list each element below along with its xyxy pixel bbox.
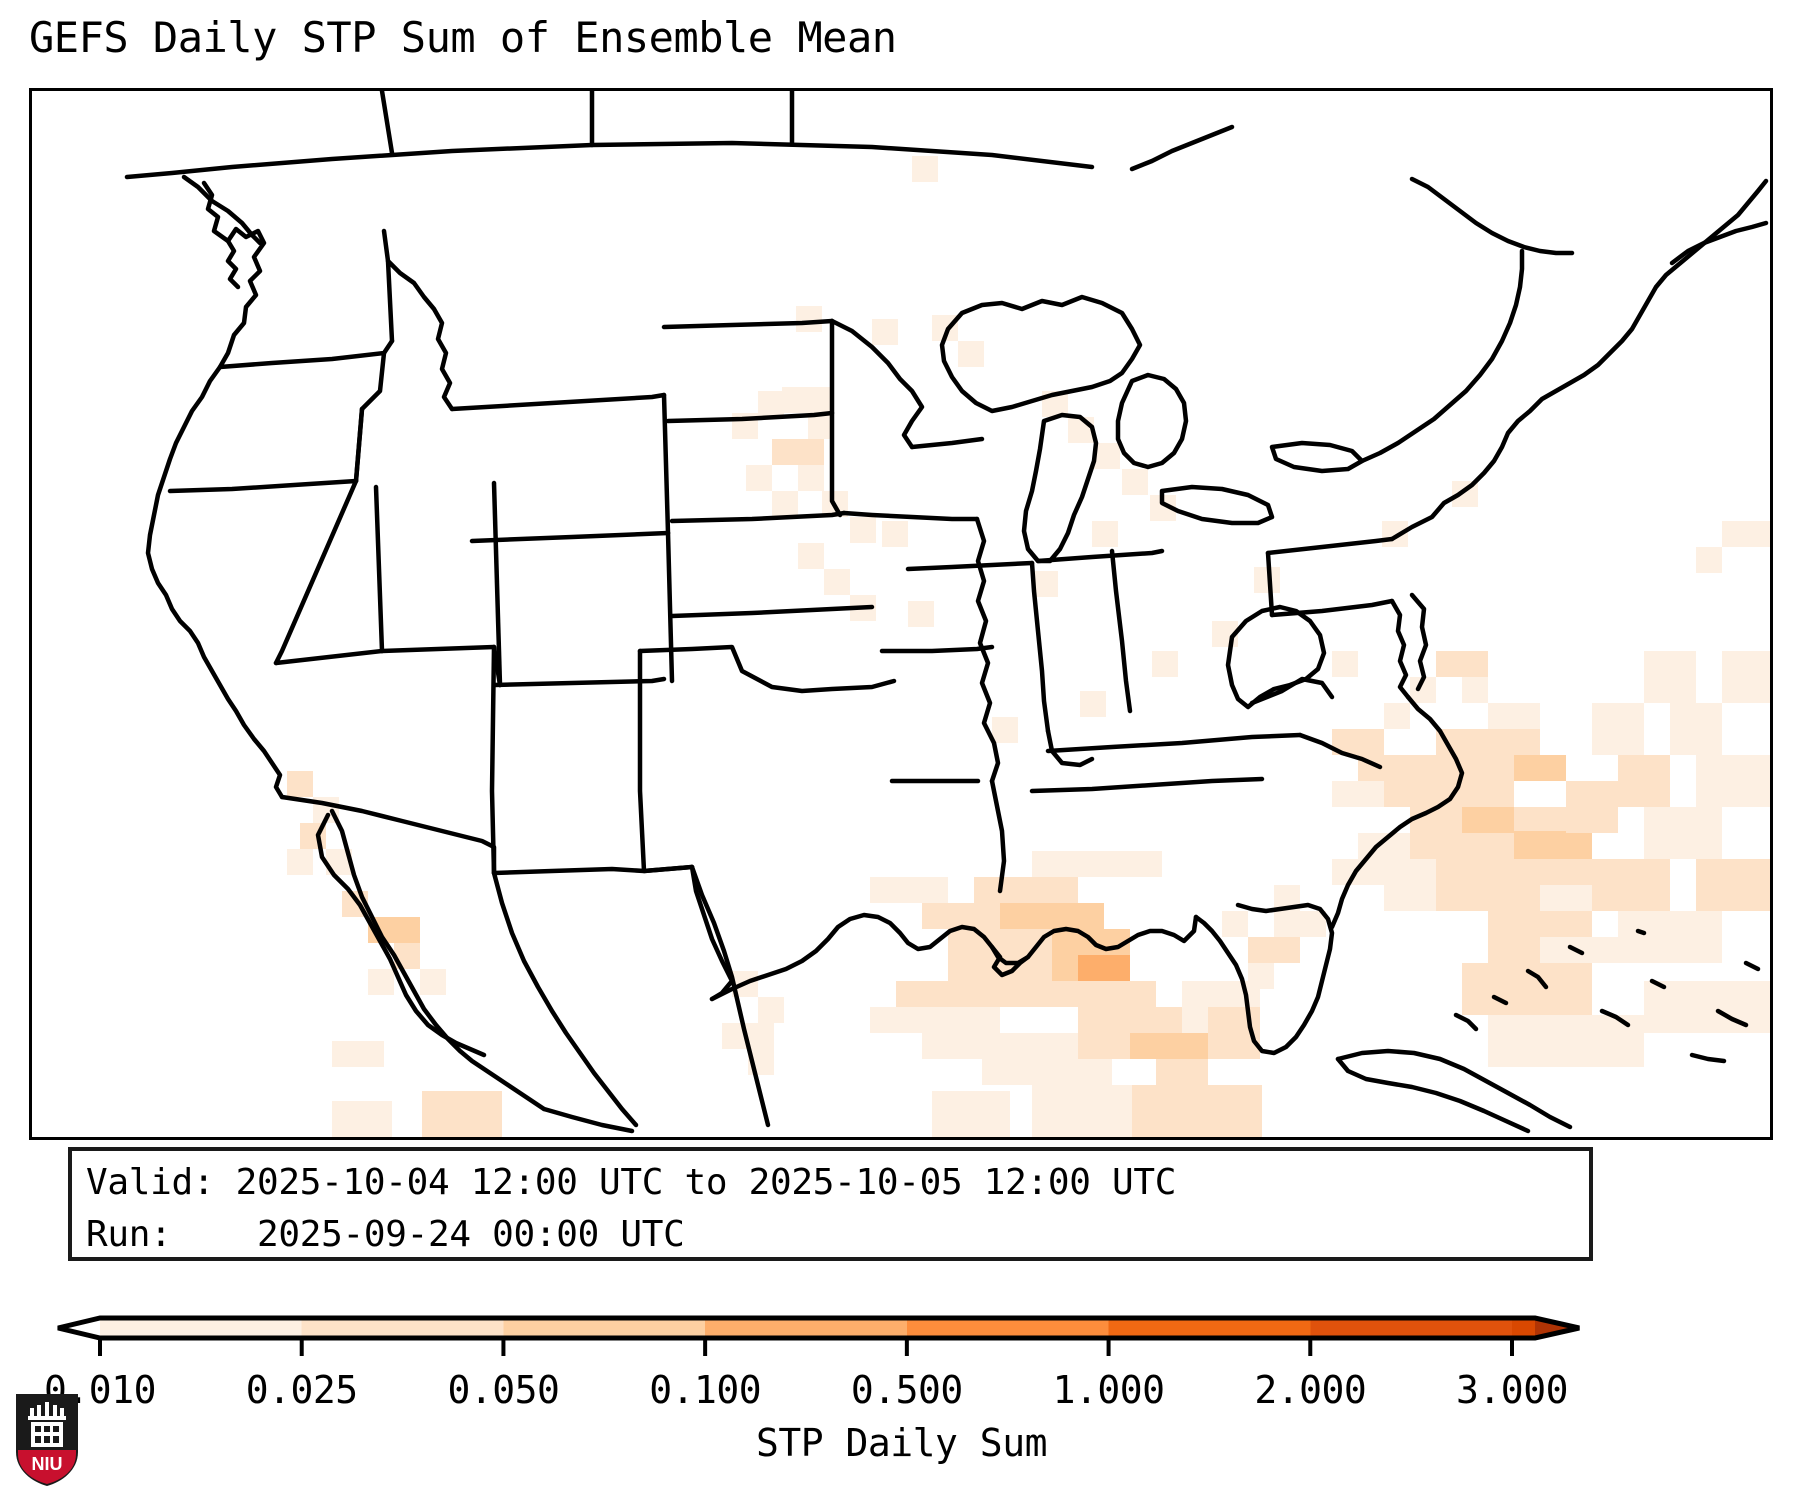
niu-logo-text: NIU: [32, 1454, 63, 1474]
colorbar-tick-label-7: 3.000: [1456, 1368, 1568, 1412]
colorbar-tick-label-3: 0.100: [649, 1368, 761, 1412]
colorbar-band-0: [100, 1318, 302, 1338]
colorbar-tick-labels: 0.0100.0250.0500.1000.5001.0002.0003.000: [0, 1368, 1803, 1414]
colorbar-axis-label: STP Daily Sum: [0, 1420, 1803, 1466]
colorbar-bands: [58, 1318, 1579, 1338]
colorbar-band-4: [907, 1318, 1109, 1338]
niu-logo: NIU: [14, 1392, 80, 1488]
run-time-line: Run: 2025-09-24 00:00 UTC: [86, 1209, 1575, 1261]
colorbar-svg: [0, 1292, 1803, 1362]
page-title: GEFS Daily STP Sum of Ensemble Mean: [29, 12, 897, 64]
map-panel: [29, 88, 1773, 1140]
colorbar-tick-label-6: 2.000: [1254, 1368, 1366, 1412]
colorbar-tick-label-1: 0.025: [246, 1368, 358, 1412]
colorbar-band-2: [503, 1318, 705, 1338]
colorbar-tick-label-4: 0.500: [851, 1368, 963, 1412]
colorbar-ticks: [100, 1338, 1512, 1356]
colorbar: [0, 1292, 1803, 1362]
colorbar-band-last: [1512, 1318, 1535, 1338]
colorbar-tick-label-5: 1.000: [1053, 1368, 1165, 1412]
bahamas-dot-1: [1638, 931, 1644, 933]
colorbar-band-1: [302, 1318, 504, 1338]
colorbar-band-5: [1109, 1318, 1311, 1338]
colorbar-band-3: [705, 1318, 907, 1338]
colorbar-tick-label-2: 0.050: [447, 1368, 559, 1412]
map-svg: [32, 91, 1770, 1137]
forecast-info-box: Valid: 2025-10-04 12:00 UTC to 2025-10-0…: [68, 1147, 1593, 1261]
state-border-az-nm: [492, 647, 494, 873]
visualization-root: GEFS Daily STP Sum of Ensemble Mean: [0, 0, 1803, 1500]
valid-time-line: Valid: 2025-10-04 12:00 UTC to 2025-10-0…: [86, 1157, 1575, 1209]
colorbar-band-6: [1310, 1318, 1512, 1338]
